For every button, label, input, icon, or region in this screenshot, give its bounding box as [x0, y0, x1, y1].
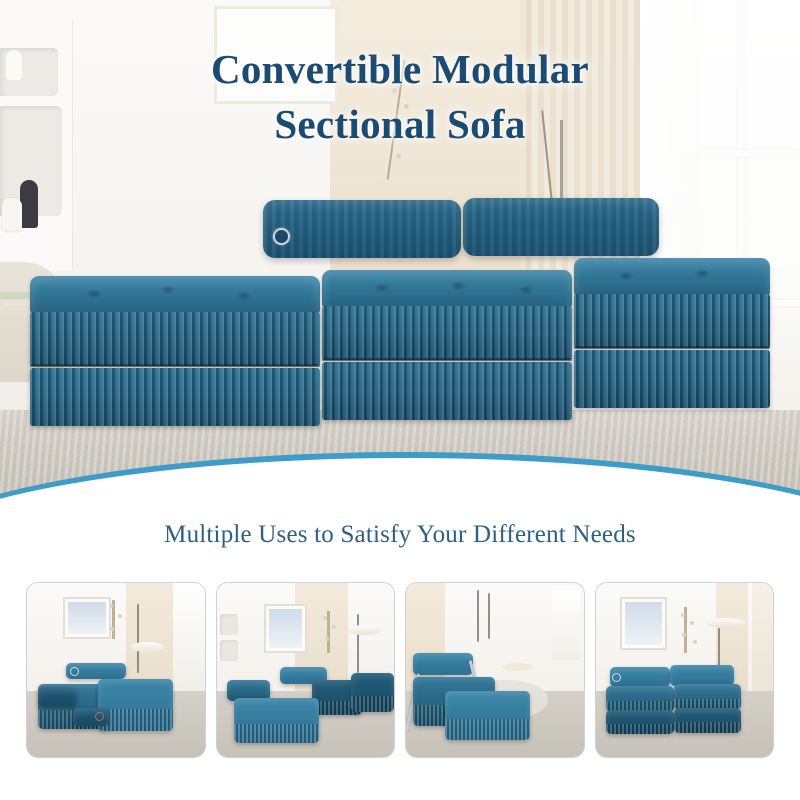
seat-module-right [574, 258, 770, 418]
thumb-warm-wall [126, 583, 172, 694]
backrest-cushion-right [463, 198, 659, 256]
thumb-backrest-left [610, 667, 670, 688]
tuft-dimple [374, 284, 390, 293]
thumb-backrest-right [670, 665, 734, 686]
thumb-plant-stem [684, 607, 687, 652]
leaf-dot [396, 154, 401, 159]
thumb-backrest [66, 663, 126, 679]
thumb-leaf [109, 604, 113, 608]
thumbnail-l-shape-lounger[interactable] [216, 582, 396, 758]
thumb-lamp-cord [477, 590, 479, 642]
product-marketing-image: Convertible Modular Sectional Sofa Multi… [0, 0, 800, 800]
thumb-leaf [681, 613, 685, 617]
thumb-armrest [38, 687, 77, 706]
tuft-dimple [694, 270, 710, 279]
seat-cushion-top [30, 276, 320, 314]
thumb-framed-art [264, 604, 307, 653]
thumb-niche [220, 614, 238, 635]
title-line-2: Sectional Sofa [0, 97, 800, 152]
thumb-side-table [502, 663, 534, 671]
thumb-seat-main [234, 698, 319, 743]
thumb-back-module [351, 673, 394, 711]
pleated-side-lower [322, 362, 572, 420]
tuft-dimple [518, 286, 534, 295]
thumb-niche [220, 640, 238, 661]
thumb-seat-right [98, 679, 173, 731]
thumb-framed-art [620, 597, 667, 650]
module-seam [30, 364, 320, 367]
title-line-1: Convertible Modular [0, 42, 800, 97]
backrest-cushion-left [263, 200, 461, 258]
thumb-bolster [73, 708, 109, 725]
pleated-side-lower [30, 368, 320, 426]
thumbnail-flat-bed[interactable] [26, 582, 206, 758]
white-figurine-decor [2, 198, 22, 230]
thumb-seat-right-lower [674, 708, 741, 732]
module-seam [322, 358, 572, 361]
page-title: Convertible Modular Sectional Sofa [0, 42, 800, 152]
thumb-seat-left-lower [606, 710, 673, 734]
thumb-leaf [332, 625, 336, 629]
subtitle: Multiple Uses to Satisfy Your Different … [0, 521, 800, 549]
thumb-seat-right-upper [674, 684, 741, 710]
tuft-dimple [86, 290, 102, 299]
thumbnail-full-sofa[interactable] [595, 582, 775, 758]
thumbnail-chaise-daybed[interactable] [405, 582, 585, 758]
tuft-dimple [618, 272, 634, 281]
tuft-dimple [450, 282, 466, 291]
configuration-thumbnail-row [26, 582, 774, 758]
tuft-dimple [236, 292, 252, 301]
thumb-window [173, 583, 205, 691]
thumb-lamp-cord [137, 604, 139, 674]
seat-cushion-top [322, 270, 572, 308]
thumb-lampshade [348, 625, 382, 635]
pleated-side-upper [322, 306, 572, 360]
thumb-framed-art [63, 597, 111, 639]
module-seam [574, 346, 770, 349]
tuft-dimple [160, 286, 176, 295]
grommet-icon [95, 712, 104, 721]
thumb-leaf [118, 614, 122, 618]
thumb-lamp-cord [488, 593, 490, 638]
thumb-lamp-cord [357, 614, 359, 673]
grommet-icon [612, 673, 621, 682]
thumb-lampshade [706, 618, 746, 628]
thumb-leaf [690, 621, 694, 625]
seat-module-center [322, 270, 572, 430]
grommet-icon [70, 667, 79, 676]
seat-cushion-top [574, 258, 770, 296]
thumb-seat-left-upper [606, 686, 673, 712]
pleated-side-upper [574, 294, 770, 348]
pleated-side-upper [30, 312, 320, 366]
pleated-side-lower [574, 350, 770, 408]
thumb-leaf [325, 637, 329, 641]
thumb-door-panel [752, 583, 773, 694]
thumb-backrest-reclined [413, 653, 473, 676]
seat-module-left [30, 276, 320, 432]
grommet-icon [273, 228, 290, 245]
thumb-seat-extended [445, 691, 530, 740]
thumb-window [552, 590, 580, 660]
modular-sectional-sofa [30, 196, 770, 446]
